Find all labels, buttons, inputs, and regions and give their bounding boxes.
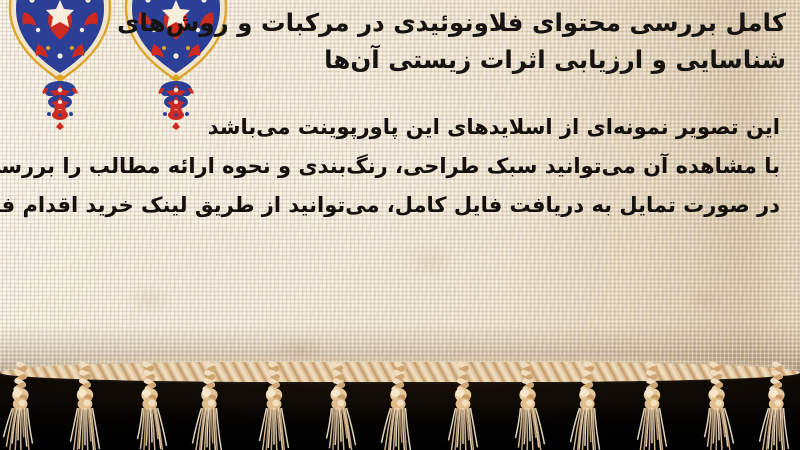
- body-line-3: در صورت تمایل به دریافت فایل کامل، می‌تو…: [18, 186, 780, 225]
- body-line-2: با مشاهده آن می‌توانید سبک طراحی، رنگ‌بن…: [18, 147, 780, 186]
- carpet-edge-cord: [0, 362, 800, 382]
- title-line-1: کامل بررسی محتوای فلاونوئیدی در مرکبات و…: [222, 4, 786, 41]
- slide-body: این تصویر نمونه‌ای از اسلایدهای این پاور…: [18, 108, 780, 225]
- bottom-black-band: [0, 372, 800, 450]
- slide-title: کامل بررسی محتوای فلاونوئیدی در مرکبات و…: [222, 4, 786, 78]
- slide-canvas: کامل بررسی محتوای فلاونوئیدی در مرکبات و…: [0, 0, 800, 450]
- title-line-2: شناسایی و ارزیابی اثرات زیستی آن‌ها: [222, 41, 786, 78]
- body-line-1: این تصویر نمونه‌ای از اسلایدهای این پاور…: [18, 108, 780, 147]
